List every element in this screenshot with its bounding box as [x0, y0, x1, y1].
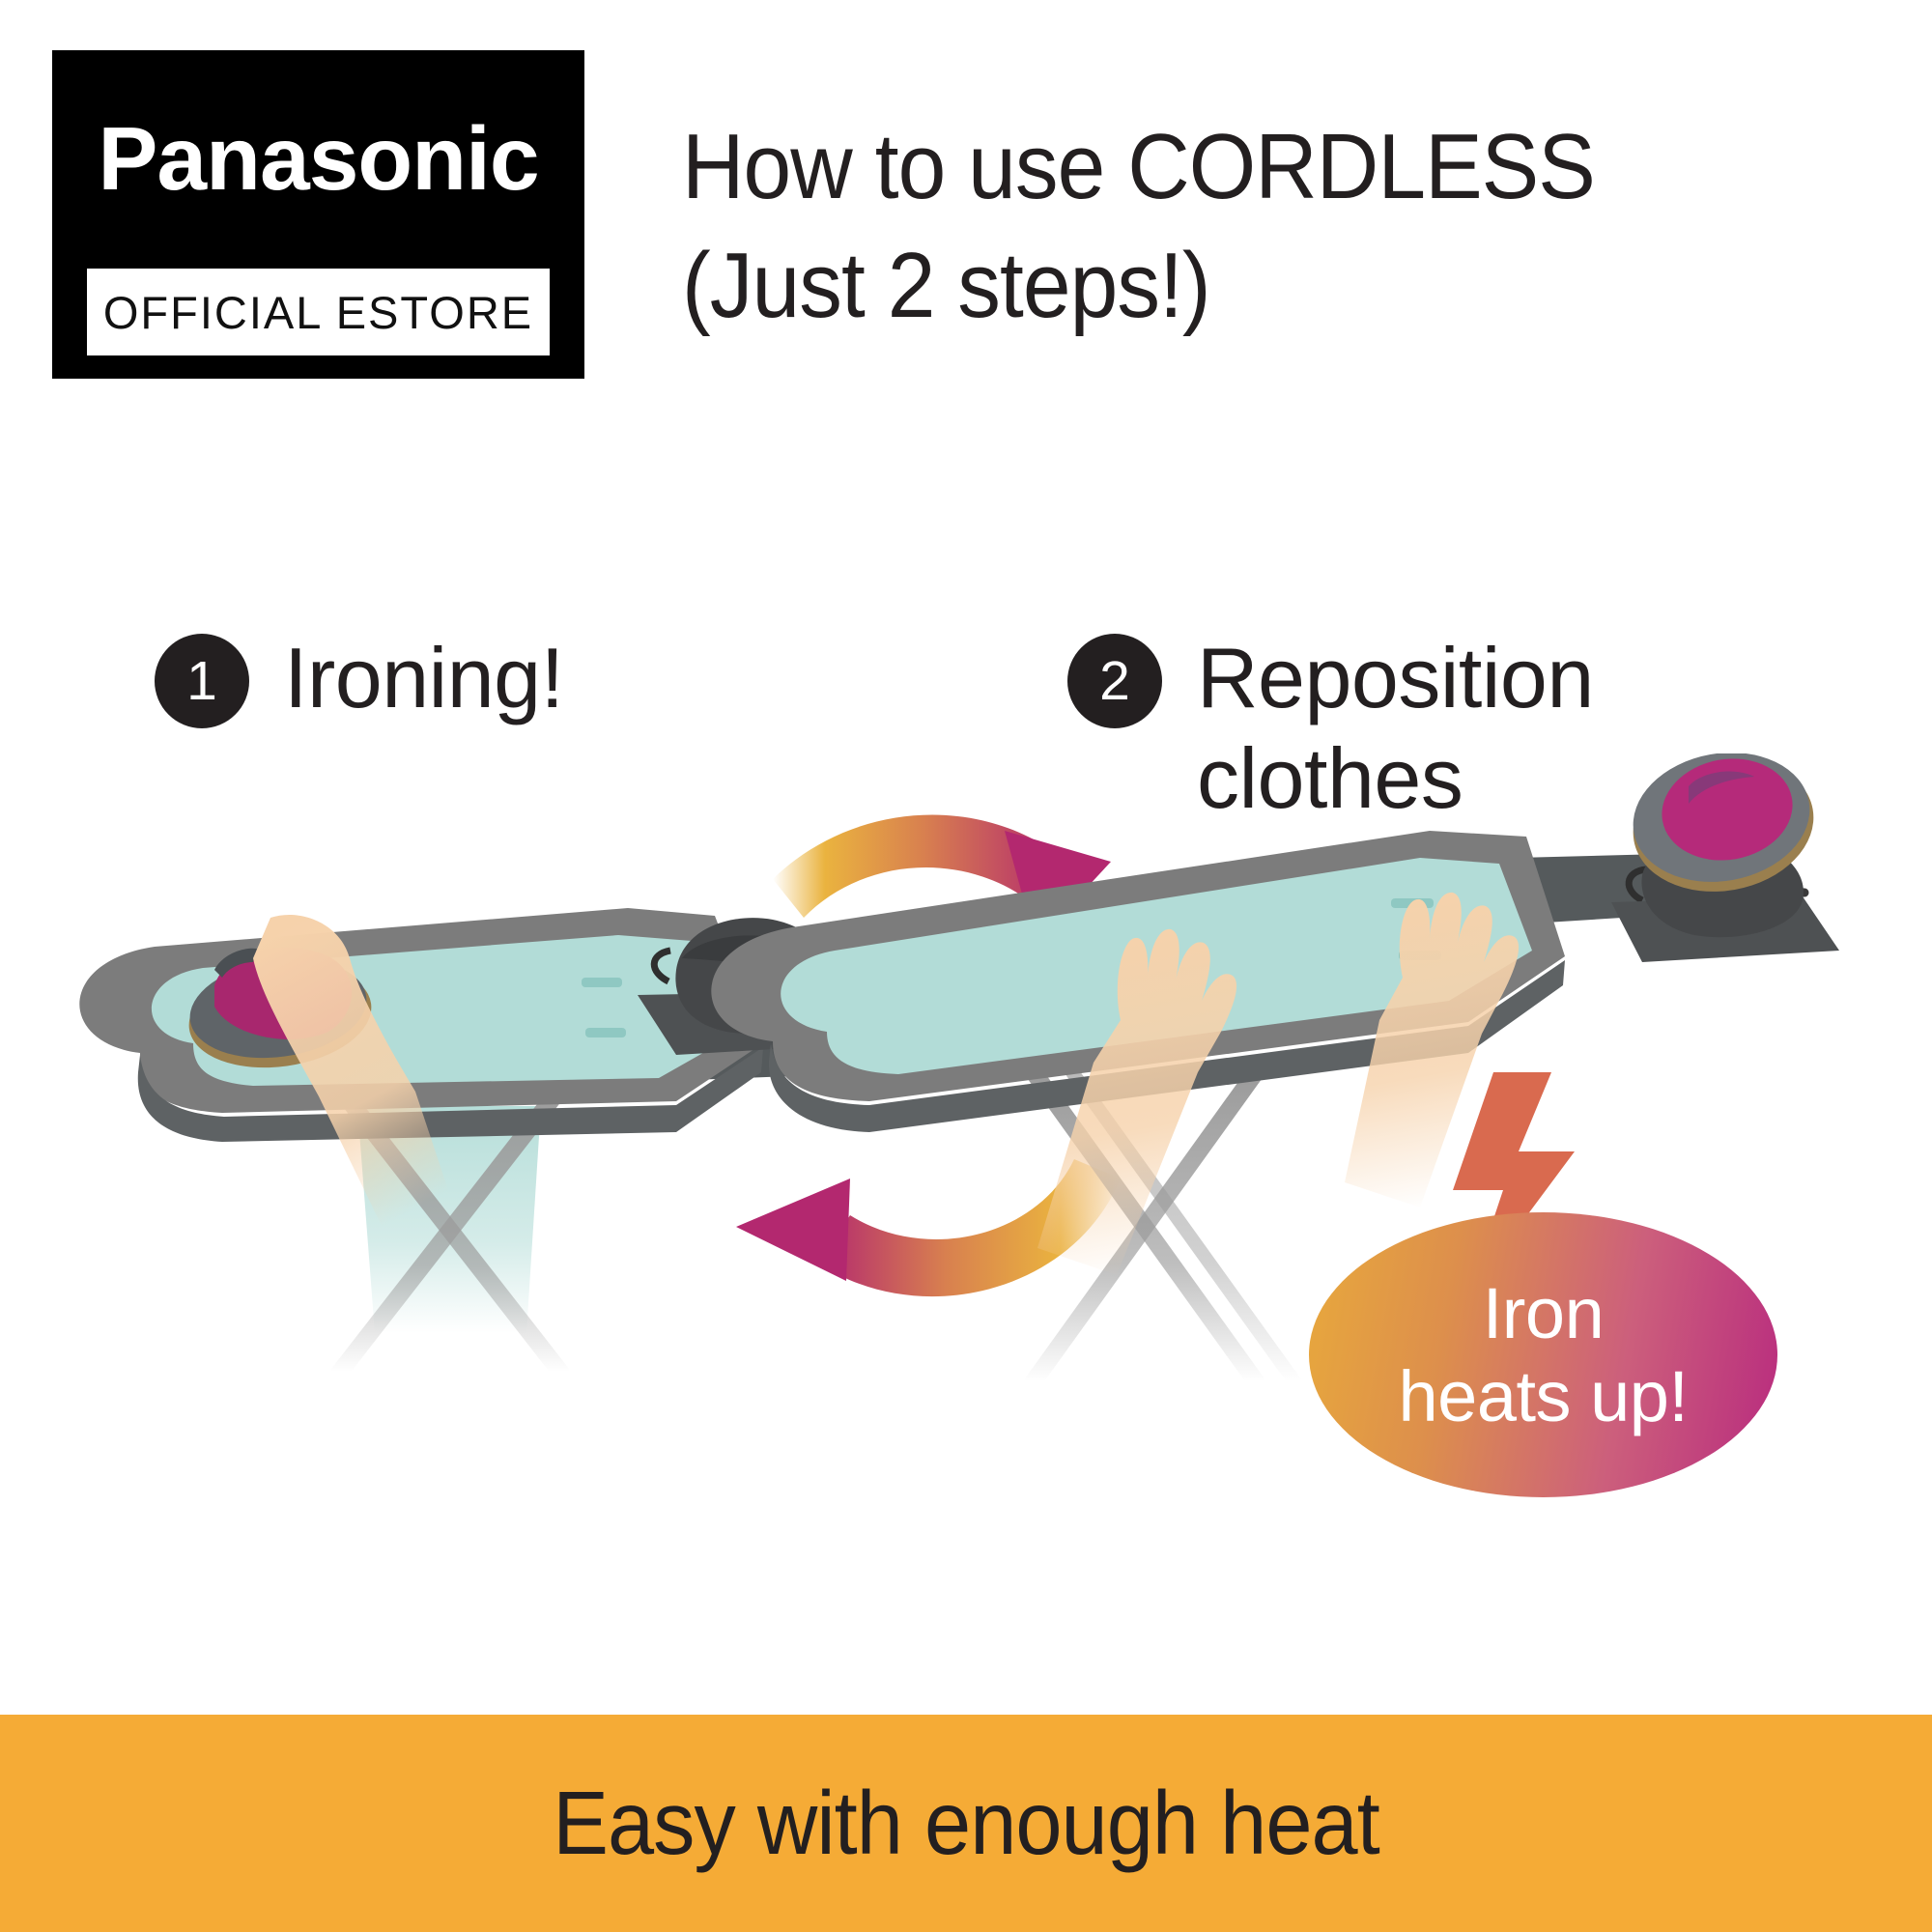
cover-clip: [585, 1028, 626, 1037]
bottom-banner: Easy with enough heat: [0, 1715, 1932, 1932]
step-1-heading: 1 Ironing!: [155, 628, 564, 728]
panasonic-wordmark: Panasonic: [52, 50, 584, 267]
bottom-banner-label: Easy with enough heat: [553, 1772, 1379, 1875]
step-2-badge: 2: [1067, 634, 1162, 728]
cover-clip: [582, 978, 622, 987]
official-estore-label: OFFICIAL ESTORE: [103, 286, 533, 339]
official-estore-box: OFFICIAL ESTORE: [87, 269, 550, 355]
page-title: How to use CORDLESS (Just 2 steps!): [682, 108, 1796, 346]
panasonic-logo-block: Panasonic OFFICIAL ESTORE: [52, 50, 584, 379]
iron-heats-up-label: Iron heats up!: [1399, 1272, 1689, 1436]
step-1-label: Ironing!: [284, 628, 564, 728]
step-1-badge: 1: [155, 634, 249, 728]
iron-on-charging-base: [1611, 753, 1839, 962]
page-title-line-1: How to use CORDLESS: [682, 108, 1796, 227]
infographic-canvas: Panasonic OFFICIAL ESTORE How to use COR…: [0, 0, 1932, 1932]
iron-heats-up-callout: Iron heats up!: [1309, 1212, 1777, 1497]
page-title-line-2: (Just 2 steps!): [682, 227, 1796, 346]
